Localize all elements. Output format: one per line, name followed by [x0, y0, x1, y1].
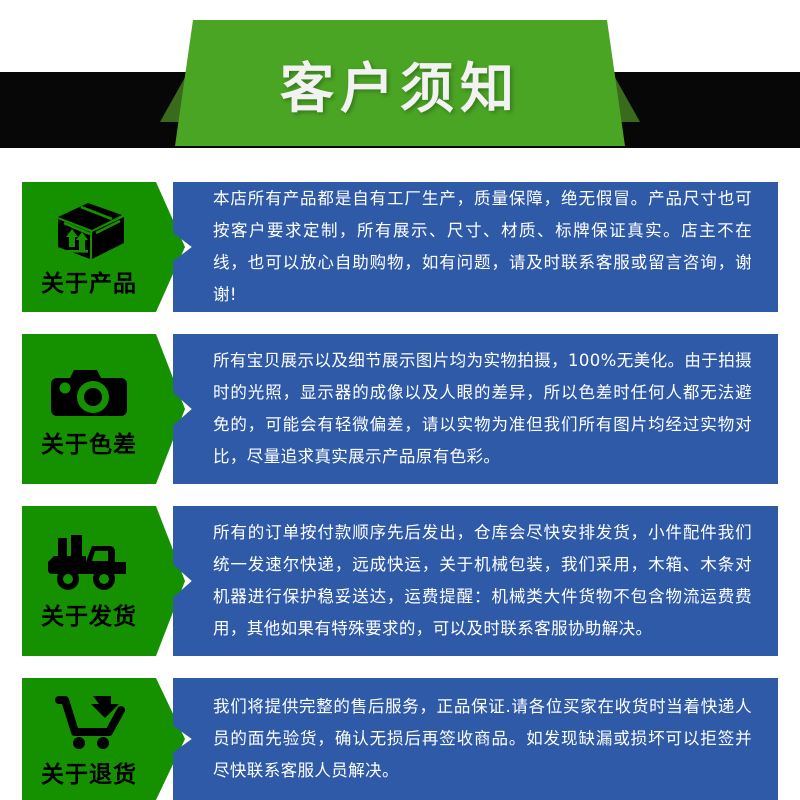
- camera-icon: [49, 360, 129, 422]
- notice-row-returns: 关于退货 我们将提供完整的售后服务，正品保证.请各位买家在收货时当着快递人员的面…: [0, 678, 800, 800]
- forklift-truck-icon: [46, 532, 132, 594]
- panel-text-shipping: 所有的订单按付款顺序先后发出，仓库会尽快安排发货，小件配件我们统一发速尔快递，远…: [173, 517, 778, 645]
- notice-row-color-difference: 关于色差 所有宝贝展示以及细节展示图片均为实物拍摄，100%无美化。由于拍摄时的…: [0, 334, 800, 484]
- badge-returns[interactable]: 关于退货: [22, 678, 185, 800]
- panel-returns: 我们将提供完整的售后服务，正品保证.请各位买家在收货时当着快递人员的面先验货，确…: [173, 678, 778, 800]
- notice-row-shipping: 关于发货 所有的订单按付款顺序先后发出，仓库会尽快安排发货，小件配件我们统一发速…: [0, 506, 800, 656]
- panel-text-color-difference: 所有宝贝展示以及细节展示图片均为实物拍摄，100%无美化。由于拍摄时的光照，显示…: [173, 345, 778, 473]
- badge-label-product: 关于产品: [41, 264, 137, 298]
- badge-label-returns: 关于退货: [41, 755, 137, 789]
- carton-box-icon: [50, 197, 128, 261]
- badge-shipping[interactable]: 关于发货: [22, 506, 185, 656]
- badge-label-shipping: 关于发货: [41, 597, 137, 631]
- panel-product: 本店所有产品都是自有工厂生产，质量保障，绝无假冒。产品尺寸也可按客户要求定制，所…: [173, 182, 778, 312]
- panel-text-product: 本店所有产品都是自有工厂生产，质量保障，绝无假冒。产品尺寸也可按客户要求定制，所…: [173, 183, 778, 311]
- return-cart-icon: [49, 690, 129, 752]
- panel-text-returns: 我们将提供完整的售后服务，正品保证.请各位买家在收货时当着快递人员的面先验货，确…: [173, 691, 778, 787]
- page-header: 客户须知: [0, 0, 800, 160]
- panel-color-difference: 所有宝贝展示以及细节展示图片均为实物拍摄，100%无美化。由于拍摄时的光照，显示…: [173, 334, 778, 484]
- notice-row-product: 关于产品 本店所有产品都是自有工厂生产，质量保障，绝无假冒。产品尺寸也可按客户要…: [0, 182, 800, 312]
- page-title: 客户须知: [175, 20, 625, 146]
- badge-color-difference[interactable]: 关于色差: [22, 334, 185, 484]
- notice-rows: 关于产品 本店所有产品都是自有工厂生产，质量保障，绝无假冒。产品尺寸也可按客户要…: [0, 160, 800, 800]
- badge-product[interactable]: 关于产品: [22, 182, 185, 312]
- panel-shipping: 所有的订单按付款顺序先后发出，仓库会尽快安排发货，小件配件我们统一发速尔快递，远…: [173, 506, 778, 656]
- badge-label-color-difference: 关于色差: [41, 425, 137, 459]
